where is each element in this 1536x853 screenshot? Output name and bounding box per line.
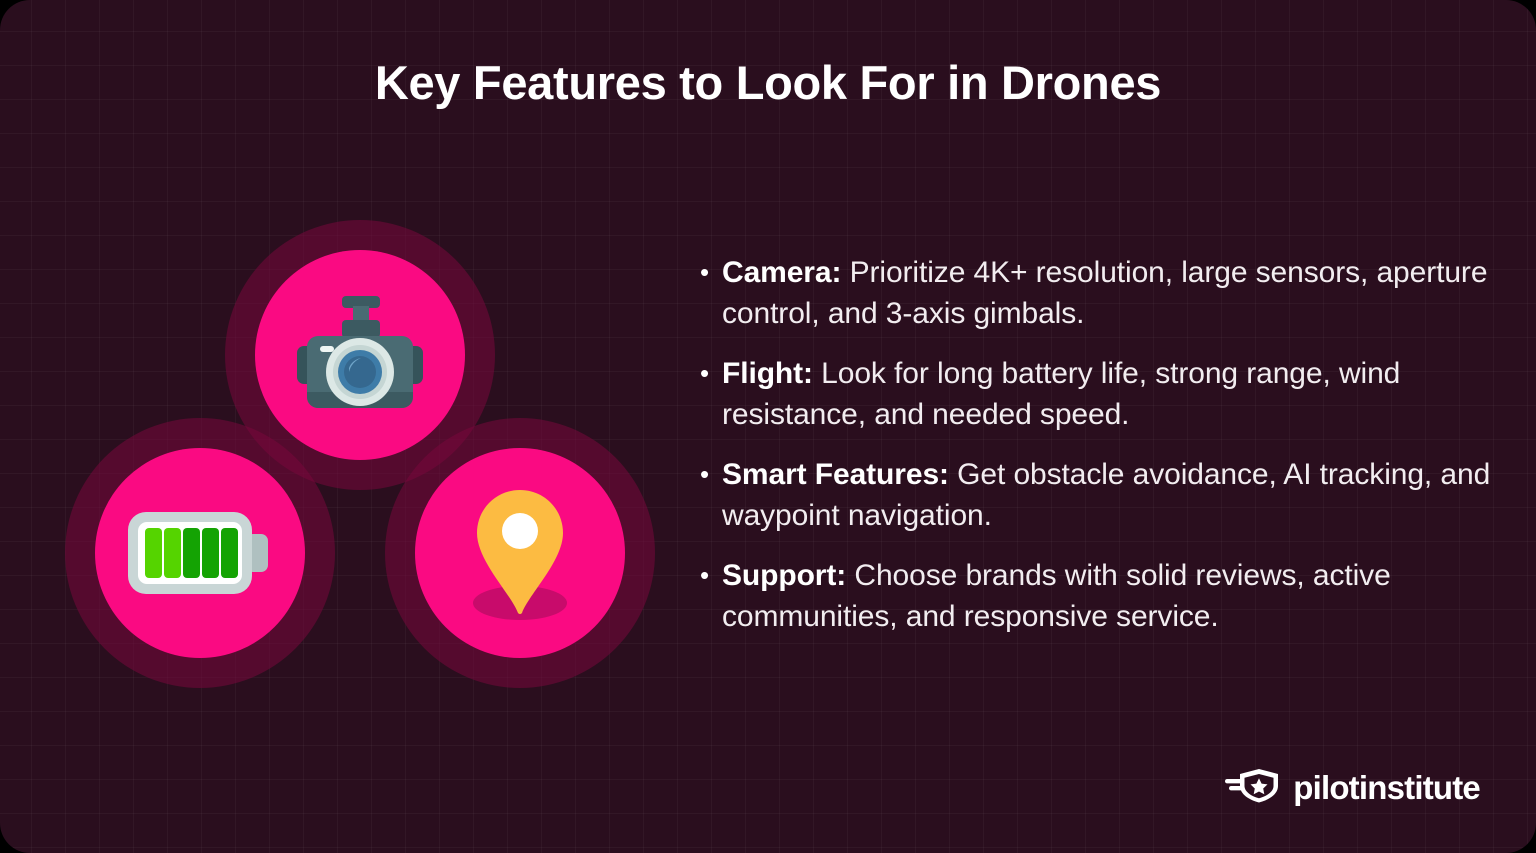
bullet-marker-icon: • [700, 252, 722, 293]
page-title: Key Features to Look For in Drones [0, 52, 1536, 114]
infographic-canvas: Key Features to Look For in Drones [0, 0, 1536, 853]
location-pin-icon [455, 482, 585, 624]
list-item-lead: Support: [722, 559, 846, 592]
list-item-text: Smart Features: Get obstacle avoidance, … [722, 454, 1500, 536]
list-item: • Flight: Look for long battery life, st… [700, 353, 1500, 435]
list-item-text: Flight: Look for long battery life, stro… [722, 353, 1500, 435]
battery-icon-badge [95, 448, 305, 658]
bullet-marker-icon: • [700, 454, 722, 495]
brand-logo: pilotinstitute [1225, 766, 1480, 809]
list-item-body: Look for long battery life, strong range… [722, 357, 1400, 431]
winged-shield-star-icon [1225, 766, 1281, 809]
list-item-lead: Smart Features: [722, 458, 949, 491]
bullet-marker-icon: • [700, 555, 722, 596]
camera-icon [295, 296, 425, 414]
list-item-lead: Camera: [722, 256, 841, 289]
bullet-marker-icon: • [700, 353, 722, 394]
list-item-text: Camera: Prioritize 4K+ resolution, large… [722, 252, 1500, 334]
battery-icon [124, 504, 276, 602]
feature-bullet-list: • Camera: Prioritize 4K+ resolution, lar… [700, 252, 1500, 656]
list-item: • Smart Features: Get obstacle avoidance… [700, 454, 1500, 536]
list-item: • Support: Choose brands with solid revi… [700, 555, 1500, 637]
logo-wordmark: pilotinstitute [1293, 771, 1480, 804]
location-pin-icon-badge [415, 448, 625, 658]
list-item-lead: Flight: [722, 357, 813, 390]
camera-icon-badge [255, 250, 465, 460]
list-item-text: Support: Choose brands with solid review… [722, 555, 1500, 637]
list-item: • Camera: Prioritize 4K+ resolution, lar… [700, 252, 1500, 334]
